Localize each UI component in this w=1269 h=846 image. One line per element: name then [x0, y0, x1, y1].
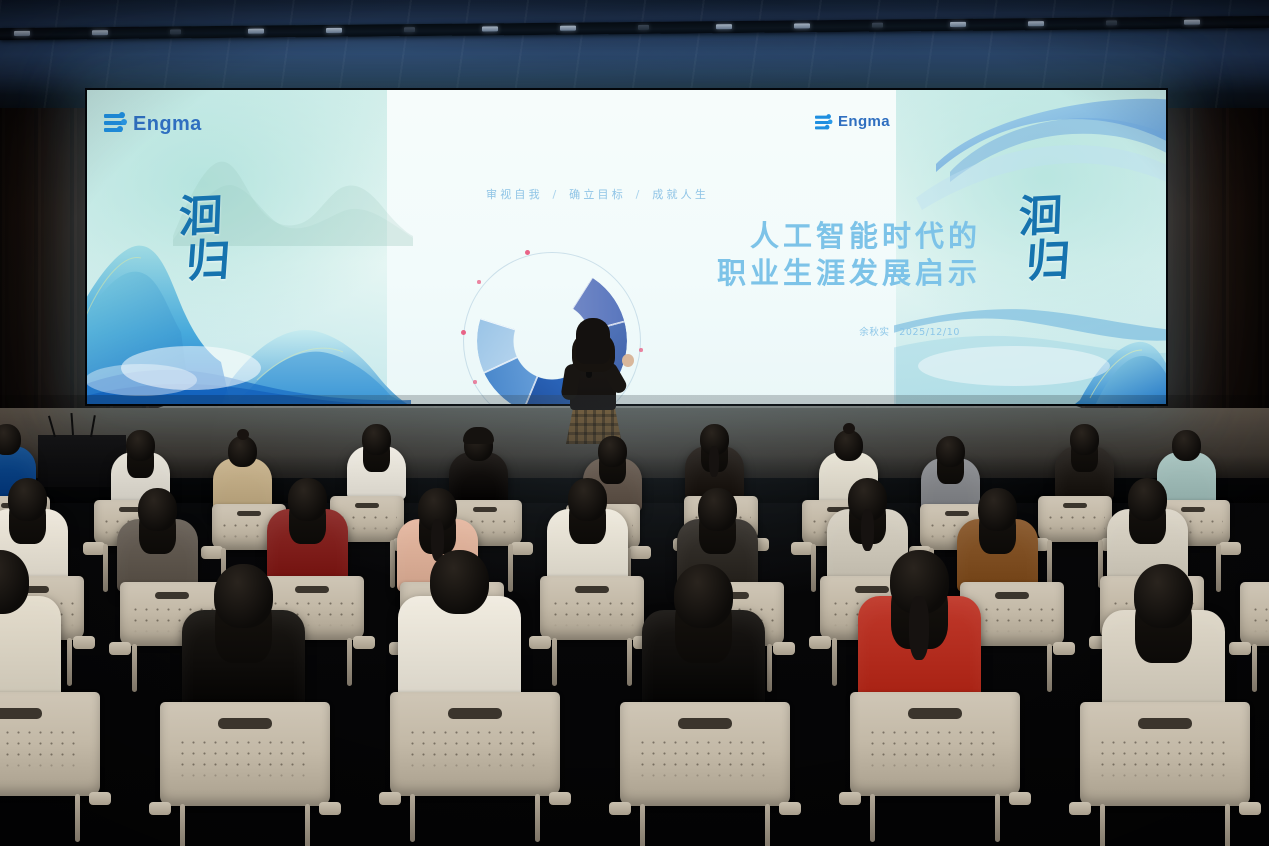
audience-ponytail — [861, 509, 874, 552]
chair-perforations — [637, 737, 773, 785]
chair-leg — [995, 794, 1000, 842]
chair-armrest — [839, 792, 861, 805]
chair-leg — [67, 638, 72, 686]
engma-wave-mark-icon — [104, 112, 126, 136]
chair-perforations — [1250, 604, 1269, 633]
chair-handle-slot — [575, 586, 608, 593]
ceiling-lamp — [170, 29, 181, 34]
chair-leg — [180, 804, 185, 846]
audience-head — [1134, 564, 1193, 628]
chair-handle-slot — [995, 592, 1028, 599]
chair-armrest — [1053, 642, 1075, 655]
chair-armrest — [319, 802, 341, 815]
chair-handle-slot — [678, 718, 732, 729]
auditorium-chair — [1038, 496, 1112, 542]
tagline-separator-2: / — [633, 188, 646, 201]
audience-head — [1070, 424, 1099, 455]
chair-handle-slot — [1181, 507, 1205, 512]
audience-ponytail — [909, 596, 929, 660]
audience-head — [1172, 430, 1201, 461]
auditorium-chair — [1080, 702, 1250, 806]
chair-leg — [640, 804, 645, 846]
audience-head — [598, 436, 627, 467]
audience-head — [1128, 478, 1167, 521]
audience-head — [214, 564, 273, 628]
chair-leg — [132, 644, 137, 692]
chair-leg — [390, 540, 395, 588]
tagline-part-3: 成就人生 — [652, 188, 709, 201]
chair-armrest — [109, 642, 131, 655]
audience-head — [228, 436, 257, 467]
audience-head — [936, 436, 965, 467]
ceiling-lamp — [1028, 21, 1044, 26]
chair-leg — [347, 638, 352, 686]
chair-handle-slot — [0, 708, 42, 719]
chair-perforations — [550, 598, 633, 627]
chair-armrest — [201, 546, 223, 559]
auditorium-chair — [620, 702, 790, 806]
slide-tagline: 审视自我 / 确立目标 / 成就人生 — [486, 186, 709, 202]
auditorium-chair — [1240, 582, 1269, 646]
chair-leg — [1252, 644, 1257, 692]
ceiling-lamp — [404, 27, 415, 32]
chair-leg — [832, 638, 837, 686]
chair-leg — [765, 804, 770, 846]
slide-title-line-2: 职业生涯发展启示 — [717, 255, 981, 292]
chair-armrest — [1219, 542, 1241, 555]
chair-leg — [627, 638, 632, 686]
chair-leg — [535, 794, 540, 842]
slide-title: 人工智能时代的 职业生涯发展启示 — [717, 218, 981, 292]
chair-armrest — [549, 792, 571, 805]
ceiling-lamp — [560, 26, 576, 31]
chair-leg — [1047, 540, 1052, 588]
presenter-hand-right — [622, 354, 634, 367]
engma-wave-mark-icon — [815, 114, 827, 128]
slide-title-line-1: 人工智能时代的 — [717, 218, 981, 255]
presentation-date: 2025/12/10 — [899, 327, 960, 338]
chair-armrest — [1239, 802, 1261, 815]
chair-leg — [305, 804, 310, 846]
chair-handle-slot — [237, 511, 261, 516]
chair-handle-slot — [355, 503, 379, 508]
chair-handle-slot — [908, 708, 962, 719]
chair-handle-slot — [945, 511, 969, 516]
slide-byline: 余秋实 2025/12/10 — [859, 324, 960, 338]
calligraphy-left-char-2: 归 — [185, 239, 232, 284]
accent-dot — [461, 330, 466, 335]
auditorium-chair — [850, 692, 1020, 796]
chair-leg — [1047, 644, 1052, 692]
audience-head — [362, 424, 391, 455]
calligraphy-left-char-1: 洄 — [171, 193, 230, 239]
audience-cap — [463, 427, 494, 444]
ceiling-lamp — [1106, 20, 1117, 25]
ceiling-lamp — [1184, 20, 1200, 25]
slide-logo-left: Engma — [104, 112, 202, 136]
auditorium-chair — [160, 702, 330, 806]
chair-armrest — [791, 542, 813, 555]
audience-head — [834, 430, 863, 461]
audience-head — [288, 478, 327, 521]
auditorium-chair — [0, 692, 100, 796]
chair-armrest — [89, 792, 111, 805]
chair-handle-slot — [295, 586, 328, 593]
auditorium-chair — [390, 692, 560, 796]
chair-armrest — [511, 542, 533, 555]
photo-scene: Engma Engma 洄 归 洄 归 — [0, 0, 1269, 846]
chair-leg — [552, 638, 557, 686]
chair-armrest — [1009, 792, 1031, 805]
chair-perforations — [177, 737, 313, 785]
ceiling-lamp — [950, 22, 966, 27]
chair-handle-slot — [1138, 718, 1192, 729]
audience-ponytail — [709, 446, 719, 477]
chair-armrest — [609, 802, 631, 815]
ceiling-lamp — [14, 31, 30, 36]
ceiling-lamp — [638, 25, 649, 30]
presenter-hair-top — [576, 318, 610, 364]
engma-wordmark-left: Engma — [133, 113, 202, 136]
chair-armrest — [73, 636, 95, 649]
chair-leg — [1100, 804, 1105, 846]
chair-leg — [767, 644, 772, 692]
accent-dot — [477, 280, 481, 284]
slide-left-wash — [87, 90, 417, 404]
chair-leg — [103, 544, 108, 592]
audience-head — [126, 430, 155, 461]
ceiling-lamp — [482, 26, 498, 31]
tagline-separator-1: / — [550, 188, 563, 201]
accent-dot — [525, 250, 530, 255]
chair-handle-slot — [218, 718, 272, 729]
chair-perforations — [1045, 512, 1104, 533]
chair-handle-slot — [1063, 503, 1087, 508]
engma-wordmark-right: Engma — [838, 113, 890, 130]
chair-armrest — [773, 642, 795, 655]
ceiling-lamp — [248, 29, 264, 34]
chair-armrest — [149, 802, 171, 815]
tagline-part-2: 确立目标 — [569, 188, 626, 201]
audience-head — [698, 488, 737, 531]
audience-head — [568, 478, 607, 521]
chair-leg — [508, 544, 513, 592]
chair-handle-slot — [473, 507, 497, 512]
audience-hair-bun — [843, 423, 855, 434]
chair-perforations — [867, 727, 1003, 775]
audience-head — [978, 488, 1017, 531]
chair-armrest — [83, 542, 105, 555]
calligraphy-left: 洄 归 — [172, 195, 230, 283]
chair-leg — [870, 794, 875, 842]
slide-logo-right: Engma — [815, 112, 890, 130]
audience-hair-bun — [237, 429, 249, 440]
chair-armrest — [379, 792, 401, 805]
chair-handle-slot — [855, 586, 888, 593]
chair-leg — [410, 794, 415, 842]
chair-armrest — [629, 546, 651, 559]
calligraphy-right: 洄 归 — [1012, 195, 1070, 283]
chair-armrest — [353, 636, 375, 649]
chair-armrest — [809, 636, 831, 649]
accent-dot — [473, 380, 477, 384]
chair-armrest — [1229, 642, 1251, 655]
audience-area — [0, 400, 1269, 846]
chair-perforations — [970, 604, 1053, 633]
chair-perforations — [0, 727, 83, 775]
audience-head — [8, 478, 47, 521]
calligraphy-right-char-2: 归 — [1025, 239, 1072, 284]
ceiling-lamp — [92, 30, 108, 35]
auditorium-chair — [540, 576, 644, 640]
audience-head — [430, 550, 489, 614]
chair-leg — [75, 794, 80, 842]
chair-leg — [811, 544, 816, 592]
chair-perforations — [407, 727, 543, 775]
ceiling-lamp — [326, 28, 342, 33]
chair-leg — [1216, 544, 1221, 592]
ceiling-lamp — [716, 24, 732, 29]
chair-armrest — [779, 802, 801, 815]
chair-leg — [1225, 804, 1230, 846]
chair-handle-slot — [448, 708, 502, 719]
presenter-name: 余秋实 — [859, 327, 889, 338]
chair-handle-slot — [155, 592, 188, 599]
tagline-part-1: 审视自我 — [486, 188, 543, 201]
audience-head — [674, 564, 733, 628]
calligraphy-right-char-1: 洄 — [1011, 193, 1070, 239]
ceiling-lamp — [794, 23, 810, 28]
chair-armrest — [1069, 802, 1091, 815]
audience-head — [0, 424, 21, 455]
ceiling-lamp — [872, 23, 883, 28]
chair-perforations — [1097, 737, 1233, 785]
audience-head — [138, 488, 177, 531]
chair-armrest — [529, 636, 551, 649]
